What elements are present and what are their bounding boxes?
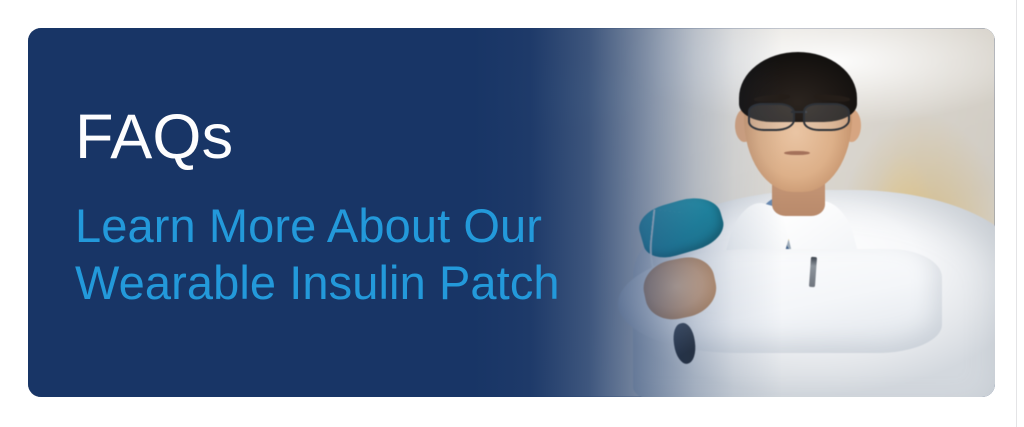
vertical-scrollbar[interactable] xyxy=(1016,0,1017,427)
faq-hero-banner: FAQs Learn More About Our Wearable Insul… xyxy=(28,28,995,397)
hero-text-block: FAQs Learn More About Our Wearable Insul… xyxy=(75,106,695,312)
page-title: FAQs xyxy=(75,106,695,169)
hero-subtitle: Learn More About Our Wearable Insulin Pa… xyxy=(75,197,695,312)
page-root: FAQs Learn More About Our Wearable Insul… xyxy=(0,0,1024,427)
